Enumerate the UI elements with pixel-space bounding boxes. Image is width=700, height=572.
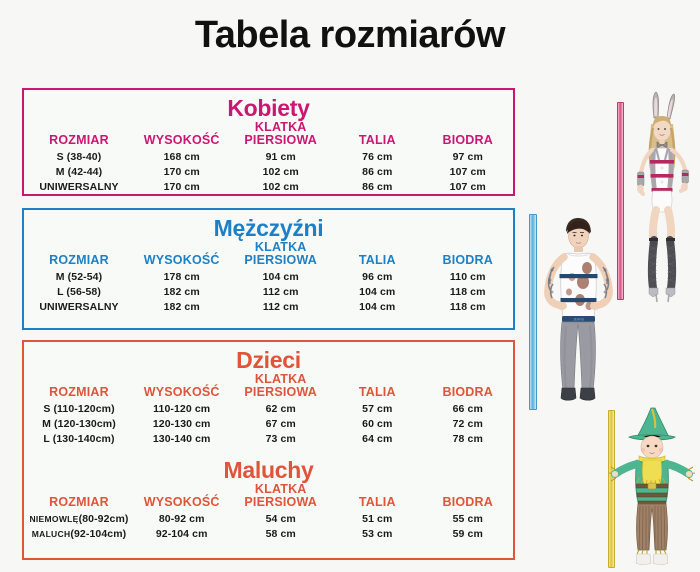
cell-height: 120-130 cm [134, 416, 229, 431]
column-header-height: WYSOKOŚĆ [134, 120, 229, 149]
table-row: UNIWERSALNY 170 cm 102 cm 86 cm 107 cm [24, 179, 513, 194]
page-title: Tabela rozmiarów [0, 0, 700, 54]
cell-waist: 51 cm [332, 511, 422, 526]
cell-hips: 107 cm [423, 179, 514, 194]
table-toddlers: ROZMIAR WYSOKOŚĆ KLATKA PIERSIOWA TALIA … [24, 482, 513, 541]
column-header-hips: BIODRA [423, 482, 514, 511]
cell-size: M (52-54) [24, 269, 134, 284]
section-title-kids: Dzieci [24, 348, 513, 372]
column-header-chest: KLATKA PIERSIOWA [229, 120, 332, 149]
cell-waist: 76 cm [332, 149, 422, 164]
table-header-row: ROZMIAR WYSOKOŚĆ KLATKA PIERSIOWA TALIA … [24, 120, 513, 149]
cell-waist: 96 cm [332, 269, 422, 284]
cell-chest: 112 cm [229, 299, 332, 314]
column-header-height: WYSOKOŚĆ [134, 240, 229, 269]
svg-text:JEANS: JEANS [573, 318, 585, 322]
table-men: ROZMIAR WYSOKOŚĆ KLATKA PIERSIOWA TALIA … [24, 240, 513, 314]
cell-chest: 112 cm [229, 284, 332, 299]
cell-hips: 97 cm [423, 149, 514, 164]
cell-hips: 59 cm [423, 527, 514, 542]
cell-height: 80-92 cm [134, 511, 229, 526]
cell-waist: 104 cm [332, 284, 422, 299]
cell-size: UNIWERSALNY [24, 179, 134, 194]
column-header-waist: TALIA [332, 482, 422, 511]
cell-height: 178 cm [134, 269, 229, 284]
cell-size: NIEMOWLĘ(80-92cm) [24, 511, 134, 526]
cell-height: 170 cm [134, 179, 229, 194]
table-header-row: ROZMIAR WYSOKOŚĆ KLATKA PIERSIOWA TALIA … [24, 372, 513, 401]
cell-height: 182 cm [134, 284, 229, 299]
table-row: UNIWERSALNY 182 cm 112 cm 104 cm 118 cm [24, 299, 513, 314]
child-figure-svg [603, 404, 700, 572]
section-women: Kobiety ROZMIAR WYSOKOŚĆ KLATKA PIERSIOW… [22, 88, 515, 196]
cell-size: MALUCH(92-104cm) [24, 527, 134, 542]
table-row: S (38-40) 168 cm 91 cm 76 cm 97 cm [24, 149, 513, 164]
column-header-chest: KLATKA PIERSIOWA [229, 482, 332, 511]
table-header-row: ROZMIAR WYSOKOŚĆ KLATKA PIERSIOWA TALIA … [24, 240, 513, 269]
table-header-row: ROZMIAR WYSOKOŚĆ KLATKA PIERSIOWA TALIA … [24, 482, 513, 511]
column-header-height: WYSOKOŚĆ [134, 372, 229, 401]
cell-size: UNIWERSALNY [24, 299, 134, 314]
cell-waist: 86 cm [332, 179, 422, 194]
cell-height: 168 cm [134, 149, 229, 164]
size-chart-page: { "title": "Tabela rozmiarów", "colors":… [0, 0, 700, 572]
cell-height: 170 cm [134, 164, 229, 179]
cell-hips: 110 cm [423, 269, 514, 284]
cell-chest: 104 cm [229, 269, 332, 284]
cell-size: S (110-120cm) [24, 401, 134, 416]
cell-size-caps: MALUCH [32, 529, 71, 539]
cell-waist: 86 cm [332, 164, 422, 179]
cell-chest: 58 cm [229, 527, 332, 542]
cell-chest: 102 cm [229, 179, 332, 194]
cell-hips: 107 cm [423, 164, 514, 179]
cell-hips: 118 cm [423, 284, 514, 299]
cell-chest: 73 cm [229, 431, 332, 446]
cell-waist: 53 cm [332, 527, 422, 542]
table-row: M (52-54) 178 cm 104 cm 96 cm 110 cm [24, 269, 513, 284]
cell-height: 92-104 cm [134, 527, 229, 542]
cell-height: 130-140 cm [134, 431, 229, 446]
column-header-chest-line2: PIERSIOWA [244, 133, 317, 147]
section-men: Mężczyźni ROZMIAR WYSOKOŚĆ KLATKA PIERSI… [22, 208, 515, 330]
column-header-size: ROZMIAR [24, 120, 134, 149]
cell-chest: 62 cm [229, 401, 332, 416]
table-row: NIEMOWLĘ(80-92cm) 80-92 cm 54 cm 51 cm 5… [24, 511, 513, 526]
cell-waist: 104 cm [332, 299, 422, 314]
cell-waist: 57 cm [332, 401, 422, 416]
cell-height: 182 cm [134, 299, 229, 314]
table-row: MALUCH(92-104cm) 92-104 cm 58 cm 53 cm 5… [24, 527, 513, 542]
cell-size: S (38-40) [24, 149, 134, 164]
table-women: ROZMIAR WYSOKOŚĆ KLATKA PIERSIOWA TALIA … [24, 120, 513, 194]
section-title-toddlers: Maluchy [24, 458, 513, 482]
column-header-waist: TALIA [332, 372, 422, 401]
cell-chest: 91 cm [229, 149, 332, 164]
child-scarecrow-costume-illustration [603, 404, 700, 572]
cell-size: M (120-130cm) [24, 416, 134, 431]
column-header-waist: TALIA [332, 120, 422, 149]
section-title-women: Kobiety [24, 96, 513, 120]
cell-height: 110-120 cm [134, 401, 229, 416]
column-header-size: ROZMIAR [24, 482, 134, 511]
table-row: L (130-140cm) 130-140 cm 73 cm 64 cm 78 … [24, 431, 513, 446]
cell-hips: 55 cm [423, 511, 514, 526]
column-header-size: ROZMIAR [24, 372, 134, 401]
table-row: L (56-58) 182 cm 112 cm 104 cm 118 cm [24, 284, 513, 299]
column-header-chest: KLATKA PIERSIOWA [229, 372, 332, 401]
column-header-chest: KLATKA PIERSIOWA [229, 240, 332, 269]
column-header-size: ROZMIAR [24, 240, 134, 269]
cell-size-caps: NIEMOWLĘ [29, 514, 78, 524]
cell-waist: 64 cm [332, 431, 422, 446]
column-header-hips: BIODRA [423, 372, 514, 401]
table-kids: ROZMIAR WYSOKOŚĆ KLATKA PIERSIOWA TALIA … [24, 372, 513, 446]
cell-waist: 60 cm [332, 416, 422, 431]
section-title-men: Mężczyźni [24, 216, 513, 240]
column-header-chest-line2: PIERSIOWA [244, 495, 317, 509]
column-header-waist: TALIA [332, 240, 422, 269]
cell-chest: 67 cm [229, 416, 332, 431]
man-figure-svg: JEANS [523, 212, 631, 412]
cell-chest: 54 cm [229, 511, 332, 526]
column-header-height: WYSOKOŚĆ [134, 482, 229, 511]
man-tattoo-tanktop-illustration: JEANS [523, 212, 631, 412]
column-header-hips: BIODRA [423, 120, 514, 149]
cell-hips: 118 cm [423, 299, 514, 314]
cell-size-range: (80-92cm) [79, 513, 129, 525]
cell-hips: 72 cm [423, 416, 514, 431]
cell-size: L (130-140cm) [24, 431, 134, 446]
section-kids-and-toddlers: Dzieci ROZMIAR WYSOKOŚĆ KLATKA PIERSIOWA… [22, 340, 515, 560]
cell-size: M (42-44) [24, 164, 134, 179]
table-row: M (42-44) 170 cm 102 cm 86 cm 107 cm [24, 164, 513, 179]
column-header-chest-line2: PIERSIOWA [244, 385, 317, 399]
cell-chest: 102 cm [229, 164, 332, 179]
column-header-chest-line2: PIERSIOWA [244, 253, 317, 267]
cell-size: L (56-58) [24, 284, 134, 299]
table-row: M (120-130cm) 120-130 cm 67 cm 60 cm 72 … [24, 416, 513, 431]
column-header-hips: BIODRA [423, 240, 514, 269]
cell-size-range: (92-104cm) [70, 528, 126, 540]
cell-hips: 78 cm [423, 431, 514, 446]
table-row: S (110-120cm) 110-120 cm 62 cm 57 cm 66 … [24, 401, 513, 416]
cell-hips: 66 cm [423, 401, 514, 416]
